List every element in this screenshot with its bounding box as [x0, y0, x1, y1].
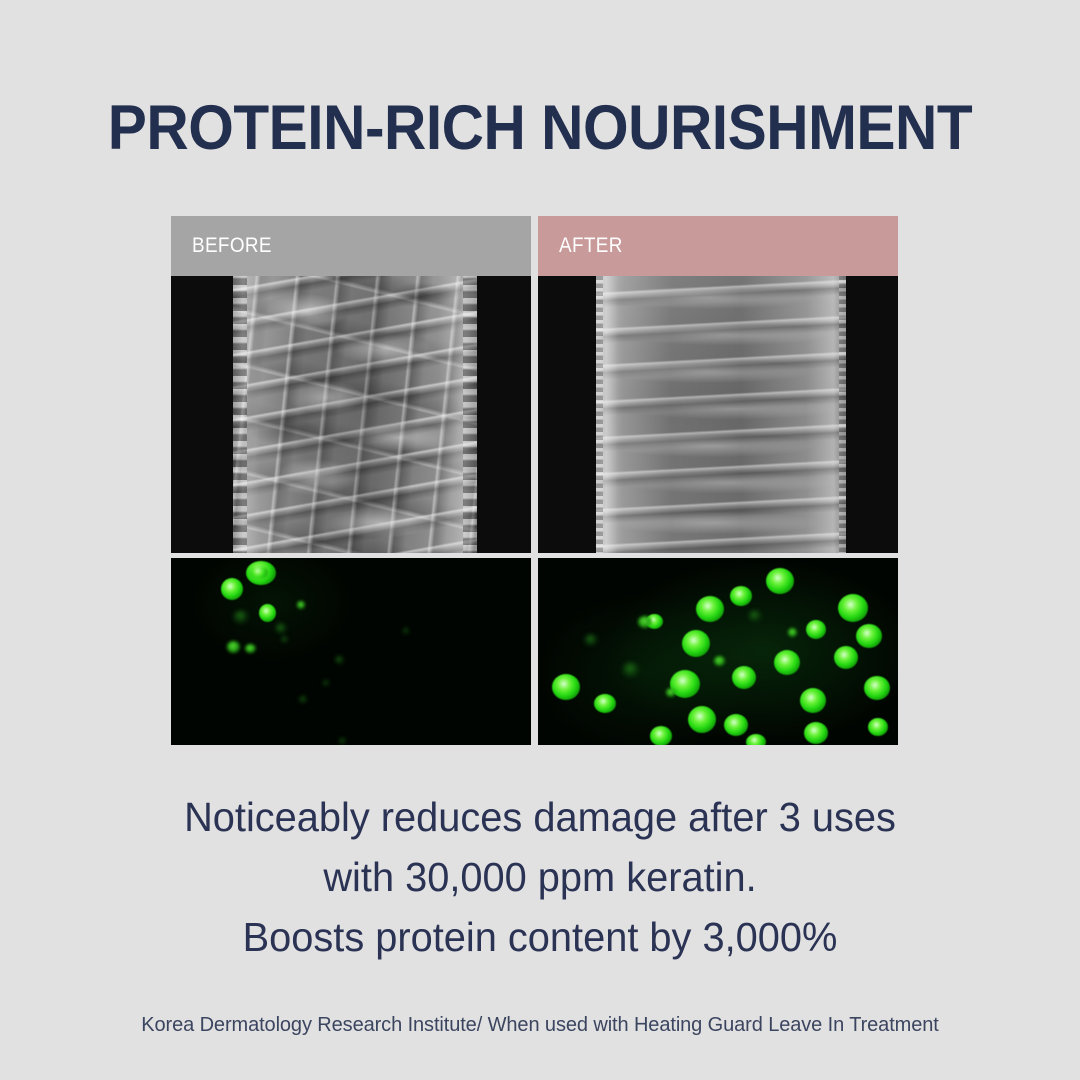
fluorescent-cell: [856, 624, 882, 648]
fluorescent-cell: [650, 726, 672, 745]
fluorescent-cell: [638, 616, 652, 628]
fluorescent-cell: [806, 620, 826, 639]
body-line-1: Noticeably reduces damage after 3 uses: [16, 787, 1064, 847]
fluorescent-cell: [221, 578, 243, 600]
fluorescent-cell: [730, 586, 752, 606]
fluorescent-cell: [732, 666, 756, 689]
fluorescent-cell: [259, 604, 276, 622]
fluorescent-cell: [403, 628, 409, 634]
fluorescent-cell: [696, 596, 724, 622]
fluorescent-cell: [299, 696, 307, 703]
fluorescent-cell: [323, 680, 329, 686]
fluorescent-cell: [748, 610, 762, 622]
fluorescent-cell: [622, 662, 640, 678]
fluorescent-cell: [594, 694, 616, 713]
fluorescent-cell: [682, 630, 710, 657]
body-copy: Noticeably reduces damage after 3 uses w…: [0, 787, 1080, 967]
fluorescent-cell: [774, 650, 800, 675]
fluorescent-cell: [788, 628, 797, 637]
fluorescent-cell: [281, 636, 288, 643]
fluorescent-cell: [864, 676, 890, 700]
column-gap-sem: [531, 276, 538, 553]
column-gap-top: [531, 216, 538, 276]
fluorescence-image-after: [538, 558, 898, 745]
shaft-edge-right-fine: [839, 276, 846, 553]
fluorescent-cell: [868, 718, 888, 736]
shaft-edge-left-rough: [233, 276, 247, 553]
fluorescence-image-before: [171, 558, 531, 745]
fluorescent-cell: [233, 610, 249, 624]
fluorescent-cell: [275, 623, 287, 634]
fluorescent-cell: [724, 714, 748, 736]
fluorescent-cell: [335, 656, 344, 664]
fluorescent-cell: [746, 734, 766, 745]
before-label-text: BEFORE: [192, 234, 272, 258]
fluorescent-cell: [804, 722, 828, 744]
fluorescent-cell: [800, 688, 826, 713]
body-line-3: Boosts protein content by 3,000%: [16, 907, 1064, 967]
infographic-page: PROTEIN-RICH NOURISHMENT BEFORE AFTER: [0, 0, 1080, 1080]
sem-image-after: [538, 276, 898, 553]
cuticle-scales-damaged: [233, 276, 477, 553]
before-label-bar: BEFORE: [171, 216, 531, 276]
column-gap-fluorescence: [531, 558, 538, 745]
after-label-text: AFTER: [559, 234, 623, 258]
fluorescent-cell: [714, 656, 725, 666]
fluorescent-cell: [766, 568, 794, 594]
before-after-comparison-grid: BEFORE AFTER: [171, 216, 898, 745]
fluorescent-cell: [245, 644, 256, 653]
shaft-edge-right-rough: [463, 276, 477, 553]
cuticle-scales-smooth: [596, 276, 846, 553]
fluorescent-cell: [297, 601, 305, 609]
shaft-edge-left-fine: [596, 276, 603, 553]
after-label-bar: AFTER: [538, 216, 898, 276]
hair-shaft-healthy: [596, 276, 846, 553]
fluorescent-cell: [834, 646, 858, 669]
page-title: PROTEIN-RICH NOURISHMENT: [38, 97, 1042, 160]
body-line-2: with 30,000 ppm keratin.: [16, 847, 1064, 907]
fluorescent-cell: [552, 674, 580, 700]
fluorescent-cell: [584, 634, 598, 646]
footnote-disclaimer: Korea Dermatology Research Institute/ Wh…: [0, 1014, 1080, 1037]
fluorescent-cell: [666, 688, 676, 697]
fluorescent-cell: [339, 738, 346, 744]
fluorescent-cell: [838, 594, 868, 622]
fluorescent-cell: [227, 641, 240, 653]
sem-image-before: [171, 276, 531, 553]
fluorescent-cell: [250, 566, 268, 579]
fluorescent-cell: [688, 706, 716, 733]
hair-shaft-damaged: [233, 276, 477, 553]
